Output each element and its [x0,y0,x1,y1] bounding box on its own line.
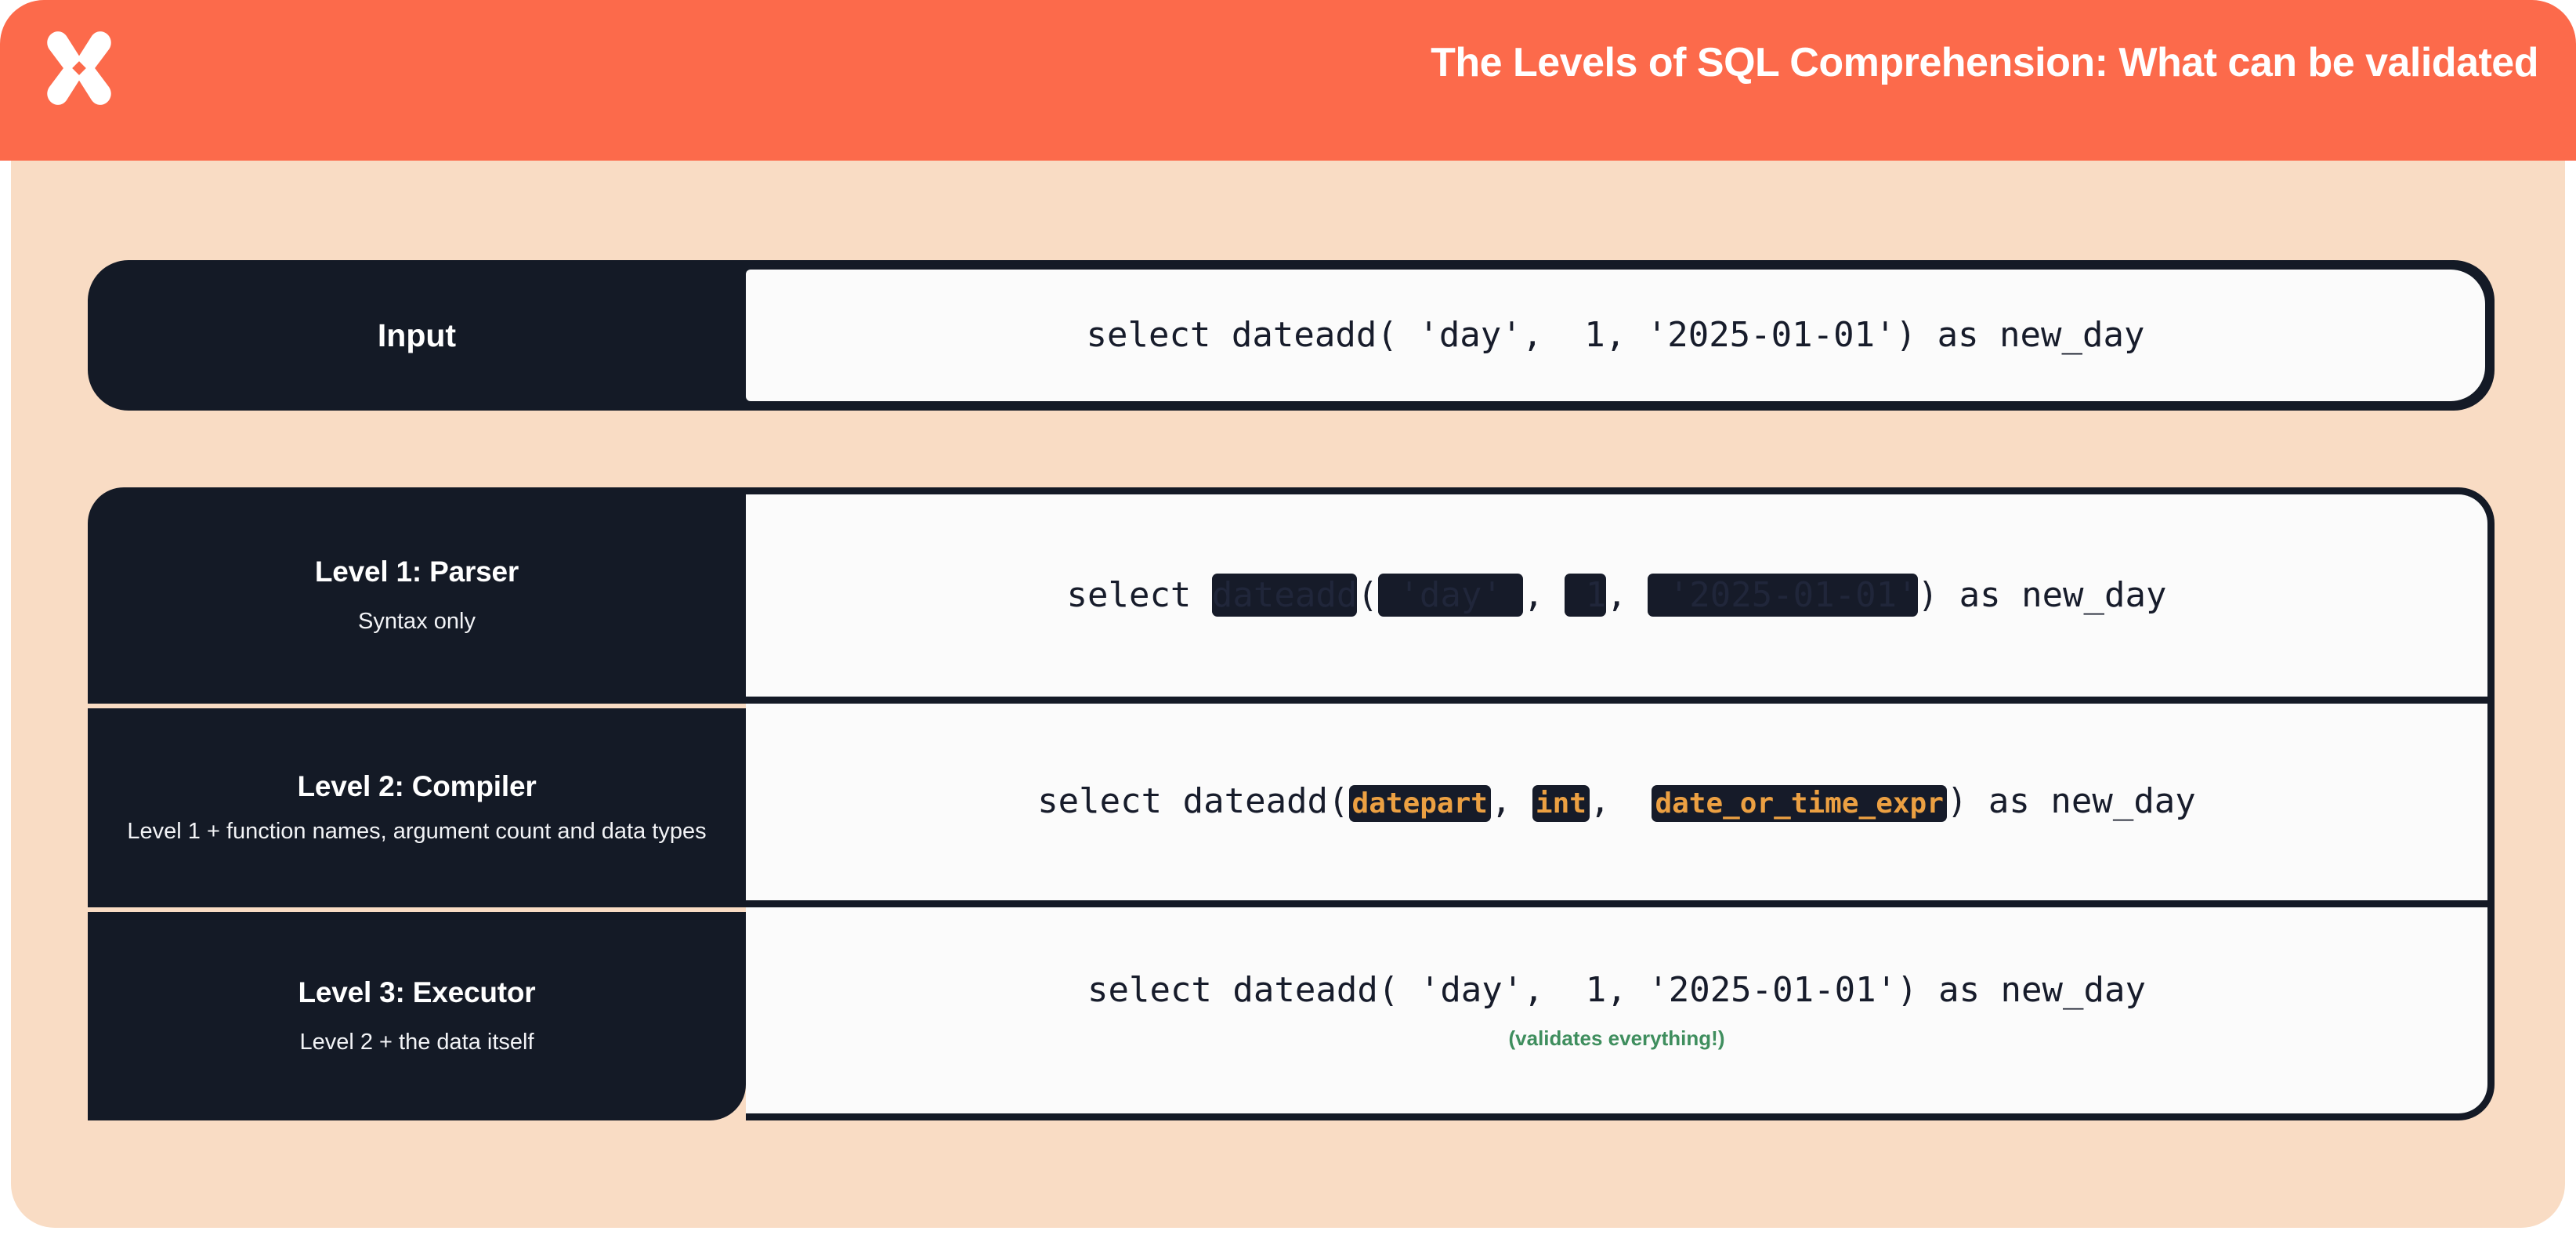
input-row-code-area: select dateadd( 'day', 1, '2025-01-01') … [746,270,2485,401]
level-1-title: Level 1: Parser [315,555,519,589]
input-row-label: Input [88,260,746,411]
level-3-label-cell: Level 3: Executor Level 2 + the data its… [88,912,746,1120]
xata-x-logo-icon [33,22,125,114]
app-header: The Levels of SQL Comprehension: What ca… [0,0,2576,161]
level-3-subtitle: Level 2 + the data itself [299,1027,534,1057]
page-title: The Levels of SQL Comprehension: What ca… [1431,39,2538,86]
level-2-sql: select dateadd(datepart, int, date_or_ti… [1037,781,2196,823]
levels-table: Level 1: Parser Syntax only Level 2: Com… [88,487,2495,1120]
level-1-sql: select dateadd( 'day' , 1, '2025-01-01')… [1066,575,2166,617]
level-3-code-area: select dateadd( 'day', 1, '2025-01-01') … [746,907,2495,1120]
level-3-note: (validates everything!) [1509,1026,1725,1051]
level-3-sql: select dateadd( 'day', 1, '2025-01-01') … [1087,970,2146,1012]
level-2-subtitle: Level 1 + function names, argument count… [127,816,706,846]
panel-top-fill [11,161,2565,208]
level-1-label-cell: Level 1: Parser Syntax only [88,487,746,704]
level-2-label-cell: Level 2: Compiler Level 1 + function nam… [88,708,746,907]
input-row-sql: select dateadd( 'day', 1, '2025-01-01') … [1086,315,2144,357]
level-1-subtitle: Syntax only [358,606,476,636]
level-2-title: Level 2: Compiler [297,769,536,804]
level-3-title: Level 3: Executor [298,976,535,1010]
input-row-card: Input select dateadd( 'day', 1, '2025-01… [88,260,2495,411]
level-2-code-area: select dateadd(datepart, int, date_or_ti… [746,704,2495,907]
level-1-code-area: select dateadd( 'day' , 1, '2025-01-01')… [746,487,2495,704]
levels-code-column: select dateadd( 'day' , 1, '2025-01-01')… [746,487,2495,1120]
levels-label-column: Level 1: Parser Syntax only Level 2: Com… [88,487,746,1120]
